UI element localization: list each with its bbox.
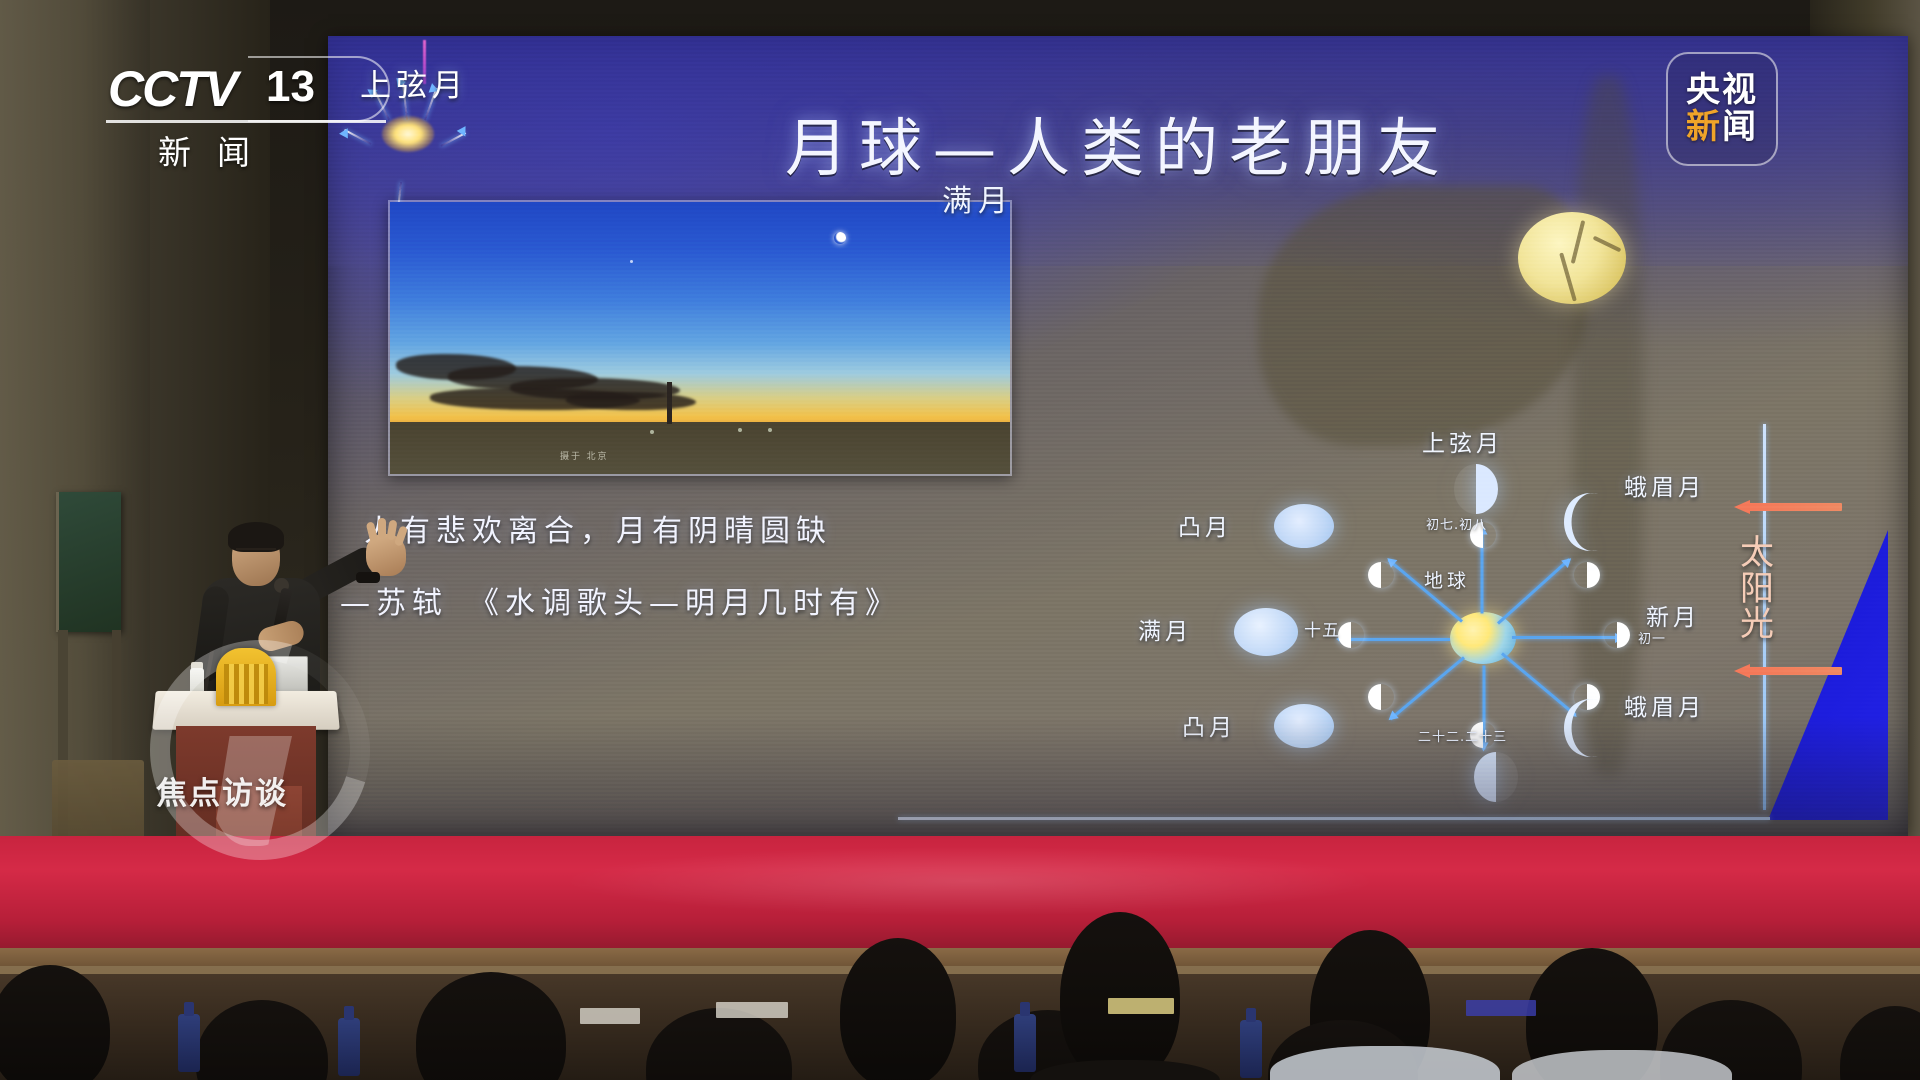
broadcast-frame: 月球—人类的老朋友 摄于 北京 上弦月 满月 — [0, 0, 1920, 1080]
audience-head — [840, 938, 956, 1080]
corner-logo-char-xin: 新 — [1686, 107, 1722, 147]
water-bottle-on-desk — [1240, 1020, 1262, 1078]
corner-logo-char-wen: 闻 — [1722, 107, 1758, 147]
program-watermark: 焦点访谈 — [150, 640, 365, 855]
speaker-glasses — [236, 548, 276, 559]
watermark-building-icon — [216, 648, 276, 706]
paper-on-desk — [1466, 1000, 1536, 1016]
corner-logo-cctv-news: 央视 新闻 — [1666, 52, 1778, 166]
audience-head — [1060, 912, 1180, 1080]
cctv-logo-underline — [106, 120, 386, 123]
water-bottle-on-desk — [338, 1018, 360, 1076]
water-bottle-on-desk — [1014, 1014, 1036, 1072]
corner-logo-line1: 央视 — [1686, 73, 1758, 107]
water-bottle-on-desk — [178, 1014, 200, 1072]
paper-on-desk — [716, 1002, 788, 1018]
channel-logo-cctv13: CCTV 13 新闻 — [98, 58, 398, 168]
speaker-wristband — [356, 572, 380, 583]
paper-on-desk — [580, 1008, 640, 1024]
watermark-program-name: 焦点访谈 — [156, 768, 288, 813]
cctv-channel-number: 13 — [266, 62, 315, 112]
chalkboard — [56, 492, 121, 632]
stage-floor-sheen — [560, 846, 1380, 916]
cctv-channel-name: 新闻 — [158, 126, 276, 174]
cctv-wordmark: CCTV — [108, 60, 236, 118]
speaker-gesturing-hand — [366, 534, 406, 576]
corner-logo-line2: 新闻 — [1686, 110, 1758, 146]
paper-on-desk — [1108, 998, 1174, 1014]
